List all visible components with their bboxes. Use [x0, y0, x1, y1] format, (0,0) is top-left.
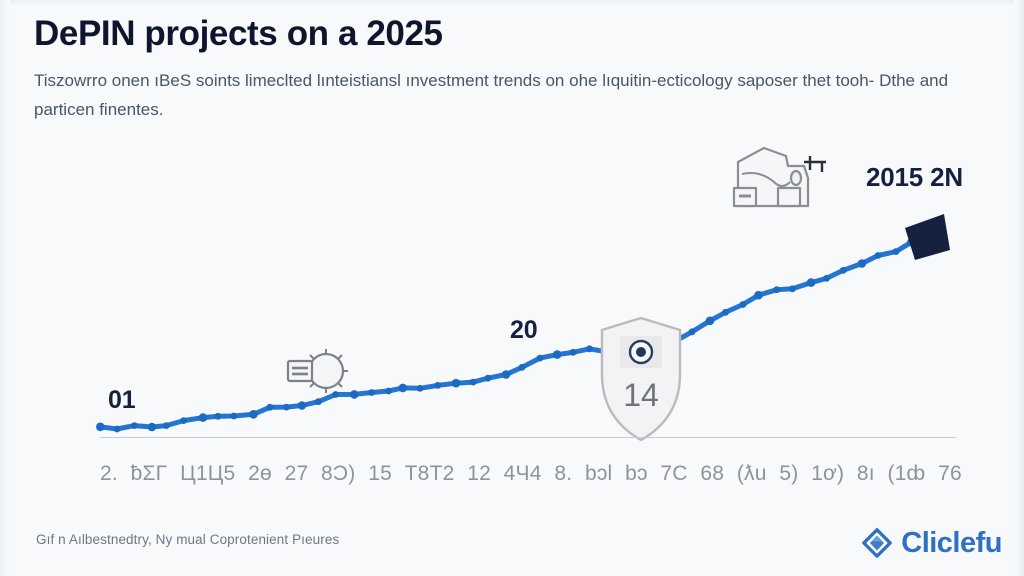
chart-point — [350, 390, 359, 399]
chart-point — [502, 370, 511, 379]
x-axis-tick: Ц1Ц5 — [180, 462, 235, 486]
chart-point — [163, 422, 170, 429]
chart-point — [452, 379, 461, 388]
chart-point — [875, 252, 882, 259]
x-axis-tick: ƀƩΓ — [131, 462, 168, 486]
chart-point — [385, 388, 392, 395]
chart-point — [519, 364, 526, 371]
chart-point — [298, 401, 307, 410]
chart-point — [131, 422, 138, 429]
chart-point — [283, 404, 290, 411]
chart-point — [249, 410, 258, 419]
x-axis-tick: Т8Т2 — [405, 462, 455, 486]
page-subtitle: Tiszowrro onen ıBeS soints limeclted lın… — [34, 66, 949, 124]
chart-point — [773, 286, 780, 293]
shield-icon: 14 — [602, 318, 680, 440]
chart-point — [754, 291, 763, 300]
chart-point — [231, 413, 238, 420]
chart-point — [893, 248, 900, 255]
footer: Gıf n Aılbestnedtry, Ny mual Coprotenien… — [0, 524, 1024, 576]
chart-point — [537, 355, 544, 362]
chart-point — [807, 278, 816, 287]
x-axis-tick: 8ı — [857, 462, 875, 486]
brand-lockup: Cliclefu — [860, 526, 1002, 560]
chart-point — [722, 309, 729, 316]
x-axis-tick: 15 — [368, 462, 392, 486]
chart-point — [470, 379, 477, 386]
chart-point — [417, 385, 424, 392]
chart-point — [689, 328, 696, 335]
x-axis-tick: 27 — [285, 462, 309, 486]
chart-point — [368, 389, 375, 396]
chart-point — [840, 267, 847, 274]
x-axis-line — [100, 437, 956, 438]
chart-point — [586, 345, 593, 352]
chart-point — [266, 404, 273, 411]
chart-point — [858, 259, 867, 268]
chart-point — [553, 350, 562, 359]
x-axis-tick: 4Ч4 — [504, 462, 542, 486]
brand-name: Cliclefu — [901, 526, 1002, 560]
x-axis-tick: 2ө — [248, 462, 272, 486]
x-axis-tick: (1ȸ — [887, 462, 925, 486]
x-axis-tick: 5) — [779, 462, 798, 486]
factory-icon — [734, 148, 826, 206]
chart-point — [434, 382, 441, 389]
x-axis-tick: (ƛu — [737, 462, 767, 486]
x-axis-tick: 8. — [554, 462, 572, 486]
footer-note: Gıf n Aılbestnedtry, Ny mual Coprotenien… — [36, 532, 339, 547]
x-axis-tick: 8Ɔ) — [321, 462, 355, 486]
shield-value-label: 14 — [623, 377, 659, 413]
x-axis-tick: bɔ — [625, 462, 648, 486]
chart-point — [706, 317, 715, 326]
chart-point — [399, 384, 408, 393]
chart-point — [740, 301, 747, 308]
x-axis-tick-labels: 2.ƀƩΓЦ1Ц52ө278Ɔ)15Т8Т2124Ч48.bɔlbɔ7C68(ƛ… — [100, 458, 962, 490]
x-axis-tick: 12 — [467, 462, 491, 486]
chart-point — [199, 413, 208, 422]
x-axis-tick: 2. — [100, 462, 118, 486]
canvas-top-edge — [0, 0, 1024, 6]
x-axis-tick: bɔl — [585, 462, 612, 486]
chart-point — [180, 417, 187, 424]
chart-point — [823, 275, 830, 282]
x-axis-tick: 76 — [938, 462, 962, 486]
chart-point — [315, 398, 322, 405]
chart-point — [215, 413, 222, 420]
annotation-mid: 20 — [510, 316, 537, 345]
header: DePIN projects on a 2025 Tiszowrro onen … — [34, 8, 974, 124]
diamond-logo-icon — [860, 526, 894, 560]
gear-icon — [288, 349, 348, 393]
chart-point — [789, 285, 796, 292]
x-axis-tick: 7C — [660, 462, 687, 486]
annotation-start: 01 — [108, 386, 135, 415]
x-axis-tick: 68 — [700, 462, 724, 486]
page-title: DePIN projects on a 2025 — [34, 8, 974, 60]
chart-point — [485, 375, 492, 382]
chart-point — [570, 349, 577, 356]
chart-point — [114, 426, 121, 433]
annotation-end: 2015 2N — [866, 162, 963, 193]
chart-point — [148, 423, 157, 432]
trend-arrow-icon — [905, 214, 950, 260]
x-axis-tick: 1ơ) — [811, 462, 844, 486]
slide-canvas: DePIN projects on a 2025 Tiszowrro onen … — [0, 0, 1024, 576]
chart-point — [332, 391, 339, 398]
chart-point — [96, 423, 105, 432]
